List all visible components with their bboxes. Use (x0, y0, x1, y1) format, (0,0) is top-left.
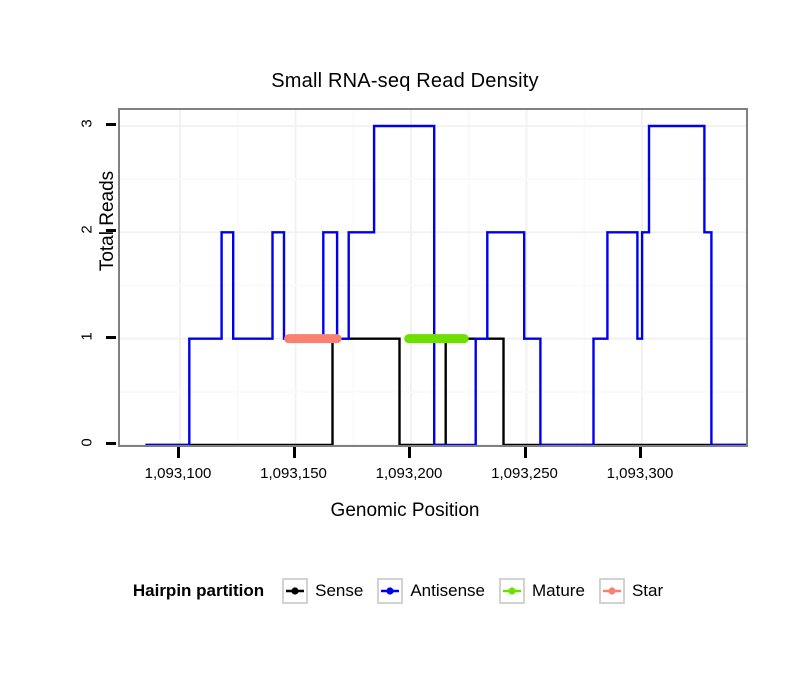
x-tick-label: 1,093,200 (349, 465, 469, 482)
legend-key-glyph (499, 578, 525, 604)
x-tick-mark (524, 447, 527, 458)
x-tick-mark (293, 447, 296, 458)
chart-figure: Small RNA-seq Read Density Total Reads G… (0, 0, 810, 690)
plot-canvas (120, 110, 746, 445)
legend-item-star[interactable]: Star (599, 578, 663, 604)
y-tick-label: 3 (79, 110, 96, 136)
x-tick-label: 1,093,150 (234, 465, 354, 482)
legend-label: Antisense (410, 581, 485, 601)
legend-key-glyph (377, 578, 403, 604)
x-axis-label: Genomic Position (0, 500, 810, 522)
y-tick-mark (106, 123, 116, 126)
y-tick-mark (106, 336, 116, 339)
x-tick-label: 1,093,250 (465, 465, 585, 482)
chart-title: Small RNA-seq Read Density (0, 70, 810, 93)
plot-panel (118, 108, 748, 447)
x-tick-label: 1,093,100 (118, 465, 238, 482)
y-tick-label: 1 (79, 323, 96, 349)
legend-item-sense[interactable]: Sense (282, 578, 363, 604)
legend: Hairpin partition SenseAntisenseMatureSt… (0, 578, 810, 604)
legend-title: Hairpin partition (133, 581, 264, 601)
x-tick-label: 1,093,300 (580, 465, 700, 482)
legend-key-glyph (599, 578, 625, 604)
legend-item-mature[interactable]: Mature (499, 578, 585, 604)
x-tick-mark (408, 447, 411, 458)
x-tick-mark (177, 447, 180, 458)
legend-label: Sense (315, 581, 363, 601)
legend-label: Mature (532, 581, 585, 601)
y-tick-mark (106, 229, 116, 232)
y-axis-label: Total Reads (97, 151, 119, 291)
legend-label: Star (632, 581, 663, 601)
y-tick-mark (106, 442, 116, 445)
y-tick-label: 0 (79, 430, 96, 456)
legend-item-antisense[interactable]: Antisense (377, 578, 485, 604)
y-tick-label: 2 (79, 217, 96, 243)
legend-key-glyph (282, 578, 308, 604)
x-tick-mark (639, 447, 642, 458)
